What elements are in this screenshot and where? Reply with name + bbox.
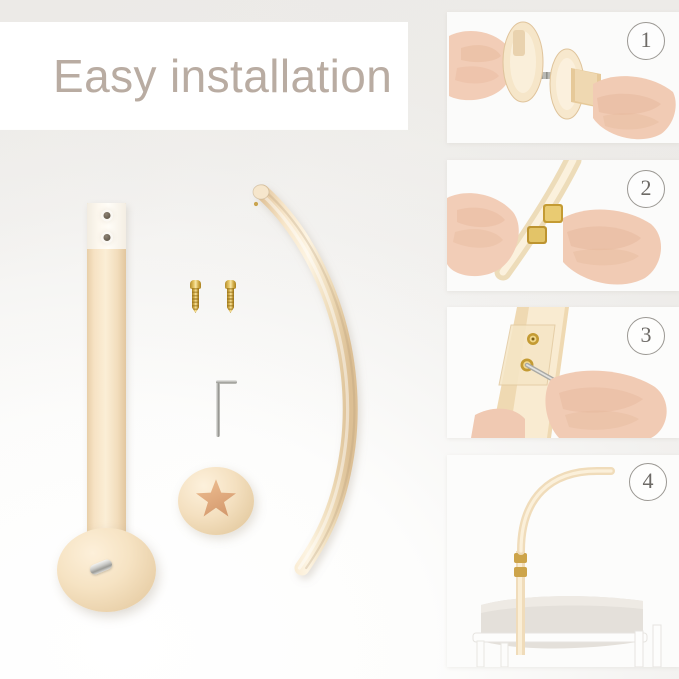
- allen-key-long-arm: [216, 383, 220, 437]
- wooden-star-knob: [196, 479, 236, 517]
- page-title: Easy installation: [53, 53, 392, 99]
- brass-screw-right: [225, 280, 236, 313]
- post-bracket: [87, 203, 126, 249]
- brass-screw-left: [190, 280, 201, 313]
- title-banner: Easy installation: [0, 22, 408, 129]
- parts-layout: [0, 150, 440, 679]
- base-disc-screw: [88, 558, 113, 576]
- step-panel-1[interactable]: 1: [447, 12, 679, 143]
- screw-head: [225, 280, 236, 289]
- allen-key: [207, 378, 237, 436]
- screw-head: [190, 280, 201, 289]
- bracket-screw-hole-bottom: [103, 234, 110, 241]
- step-badge-2: 2: [627, 170, 665, 208]
- step-badge-1: 1: [627, 22, 665, 60]
- base-wooden-disc: [57, 528, 156, 612]
- step-badge-4: 4: [629, 463, 667, 501]
- step-panel-4[interactable]: 4: [447, 455, 679, 667]
- step-panel-3[interactable]: 3: [447, 307, 679, 438]
- screw-shaft: [192, 288, 199, 313]
- curved-wooden-arm: [236, 180, 396, 580]
- step-badge-3: 3: [627, 317, 665, 355]
- bracket-screw-hole-top: [103, 212, 110, 219]
- step-panels: 1: [447, 0, 679, 679]
- step-panel-2[interactable]: 2: [447, 160, 679, 291]
- screw-shaft: [227, 288, 234, 313]
- infographic-canvas: Easy installation: [0, 0, 679, 679]
